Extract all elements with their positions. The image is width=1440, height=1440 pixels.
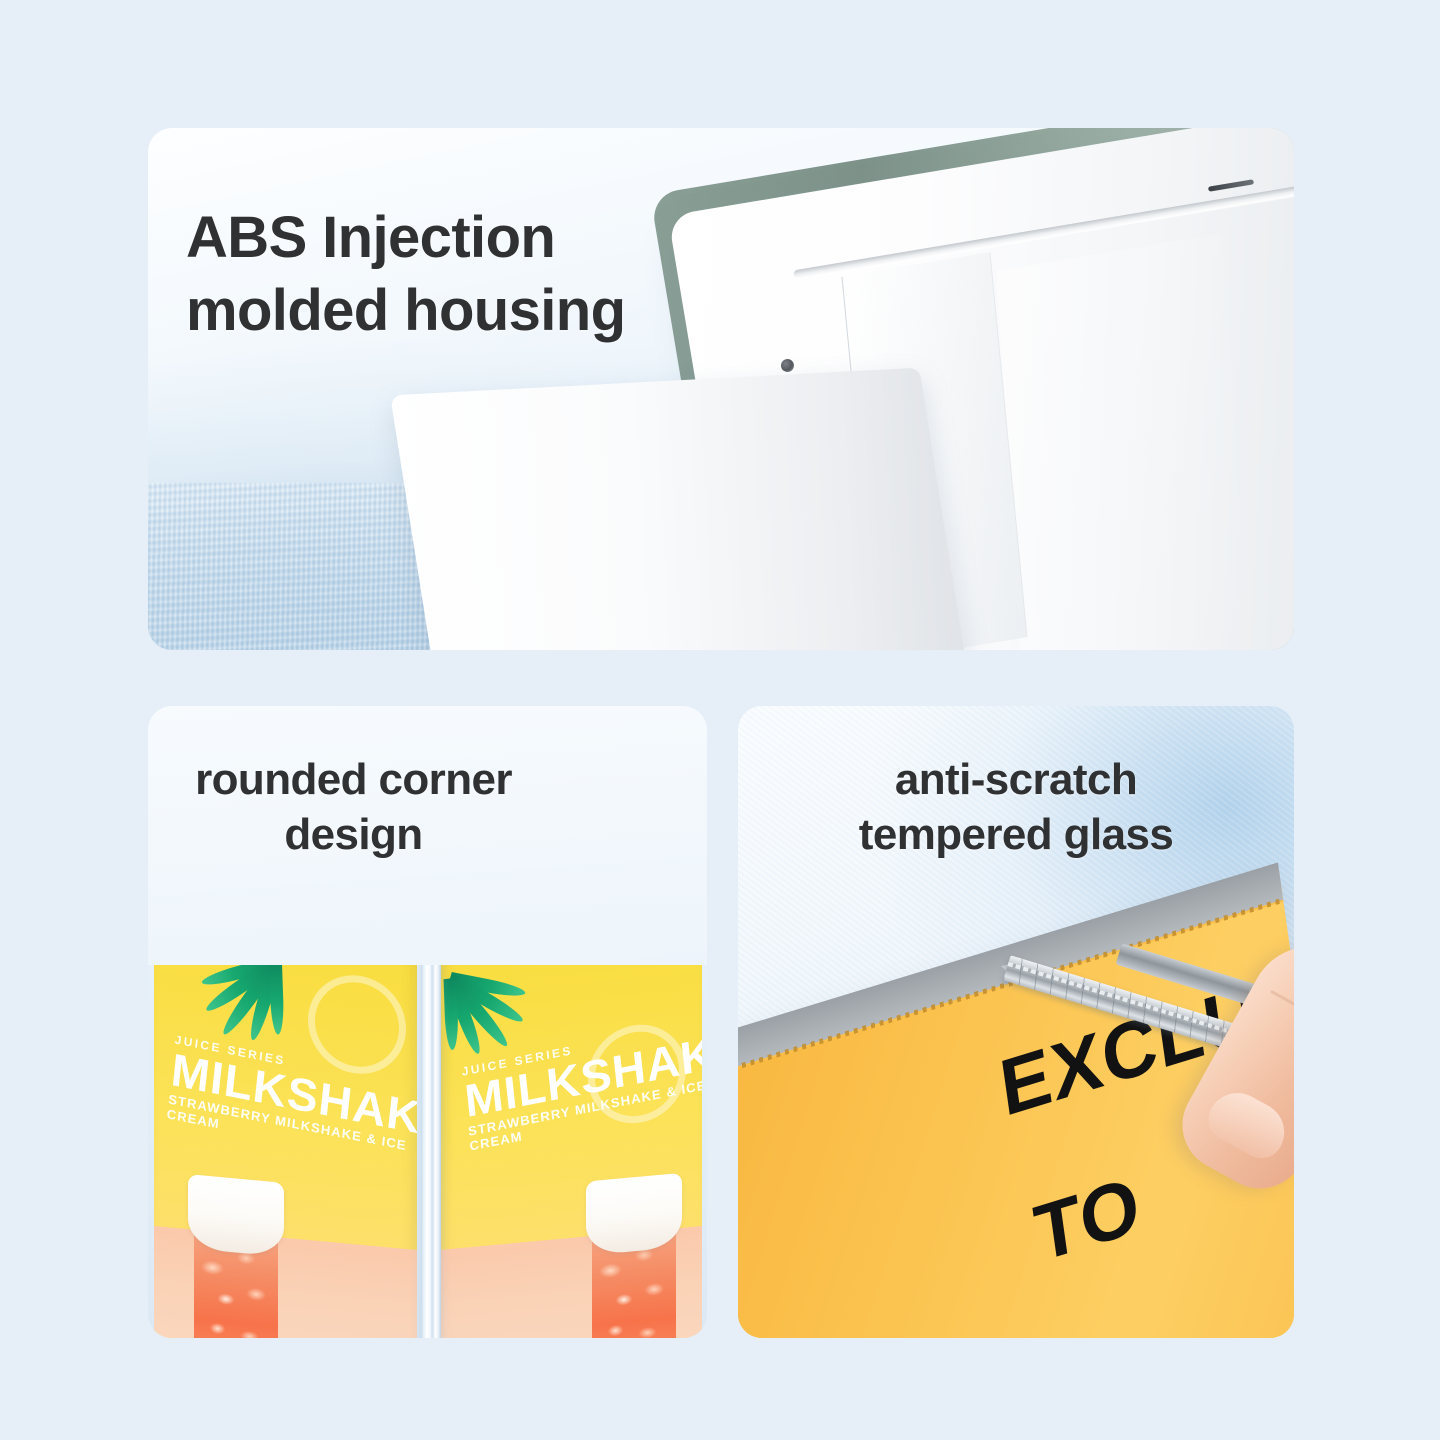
page-title-rounded-corner: rounded corner design [0,752,707,862]
milkshake-cup-icon [586,1177,682,1338]
page-title-abs-housing: ABS Injection molded housing [186,202,625,347]
rounded-corner-product-photo: JUICE SERIES MILKSHAKE STRAWBERRY MILKSH… [148,965,707,1338]
rounded-corner-seam [421,965,441,1338]
signage-panel-right: JUICE SERIES MILKSHAKE STRAWBERRY MILKSH… [439,965,702,1338]
housing-front-plate [390,367,983,650]
page-title-anti-scratch: anti-scratch tempered glass [738,752,1294,862]
fingernail [1200,1082,1294,1166]
housing-facet-highlight [996,234,1248,650]
product-feature-page: ABS Injection molded housing JUICE SERIE… [0,0,1440,1440]
finger-knuckle-crease [1269,989,1294,1036]
milkshake-cup-icon [188,1178,284,1338]
signage-panel-left: JUICE SERIES MILKSHAKE STRAWBERRY MILKSH… [154,965,417,1338]
